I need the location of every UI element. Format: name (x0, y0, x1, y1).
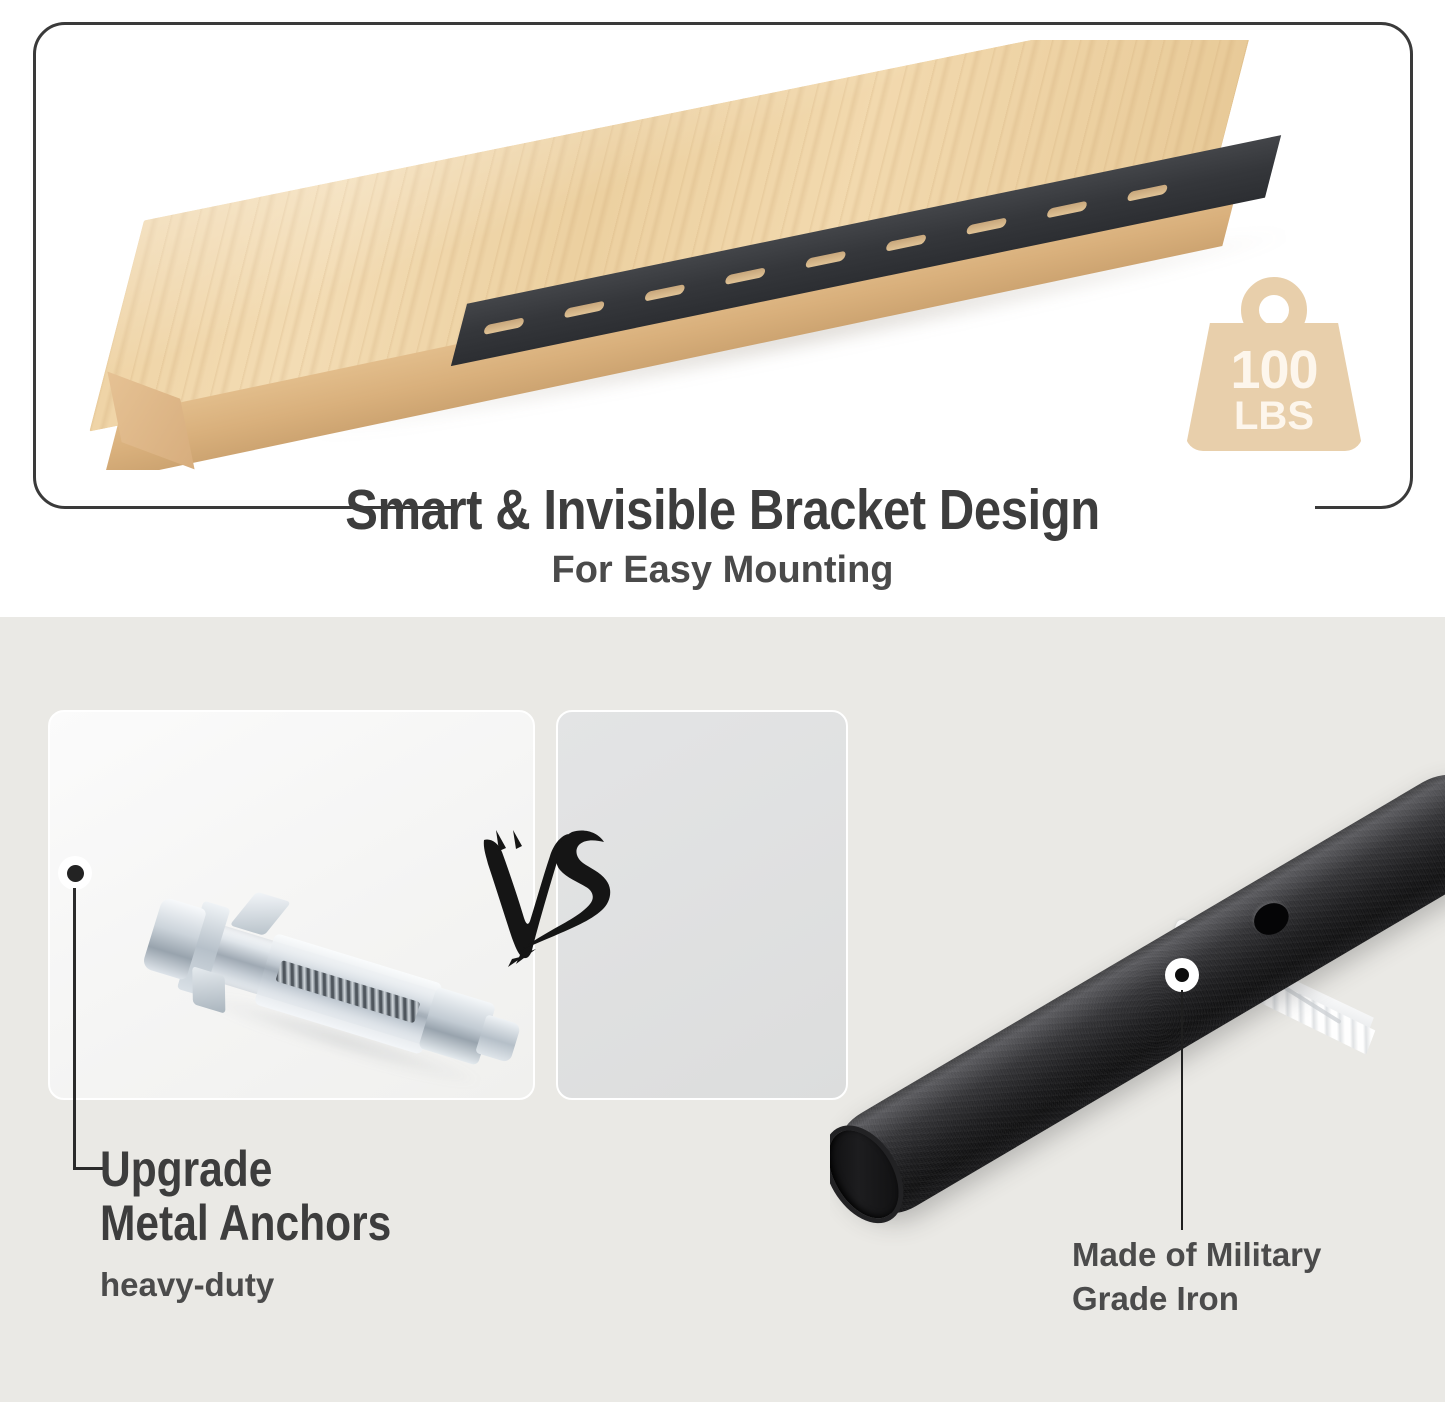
weight-capacity-badge: 100 LBS (1181, 275, 1367, 451)
hero-section: 100 LBS Smart & Invisible Bracket Design… (0, 0, 1445, 617)
iron-pipe-leader-line (1181, 990, 1183, 1230)
page-subtitle: For Easy Mounting (0, 549, 1445, 592)
metal-anchor-callout-dot (58, 856, 92, 890)
bracket-slot (805, 250, 847, 268)
bracket-slot (483, 317, 525, 335)
caption-line-2: Metal Anchors (100, 1196, 576, 1250)
caption-line-1: Upgrade (100, 1142, 576, 1196)
plastic-plug-panel (556, 710, 848, 1100)
caption-line-1: Made of Military (1072, 1233, 1445, 1277)
iron-pipe-callout-dot (1165, 958, 1199, 992)
iron-pipe-icon (830, 755, 1445, 1234)
bracket-slot (1127, 183, 1169, 201)
pipe-texture (830, 755, 1445, 1234)
metal-anchor-panel (48, 710, 535, 1100)
bracket-slot (644, 283, 686, 301)
bracket-slot (724, 267, 766, 285)
metal-anchor-caption: Upgrade Metal Anchors heavy-duty (100, 1142, 660, 1304)
metal-anchor-leader-line (73, 888, 76, 1170)
weight-unit: LBS (1234, 396, 1314, 436)
bracket-slot (885, 233, 927, 251)
metal-anchor-icon (116, 850, 546, 1138)
weight-icon-body: 100 LBS (1185, 323, 1363, 451)
bracket-slot (564, 300, 606, 318)
weight-value: 100 (1230, 344, 1317, 397)
bracket-slot (1046, 200, 1088, 218)
caption-subtext: heavy-duty (100, 1266, 660, 1304)
infographic-page: 100 LBS Smart & Invisible Bracket Design… (0, 0, 1445, 1402)
iron-pipe-caption: Made of Military Grade Iron (1072, 1233, 1445, 1320)
bracket-slot (966, 217, 1008, 235)
caption-line-2: Grade Iron (1072, 1277, 1445, 1321)
page-title: Smart & Invisible Bracket Design (101, 477, 1344, 543)
